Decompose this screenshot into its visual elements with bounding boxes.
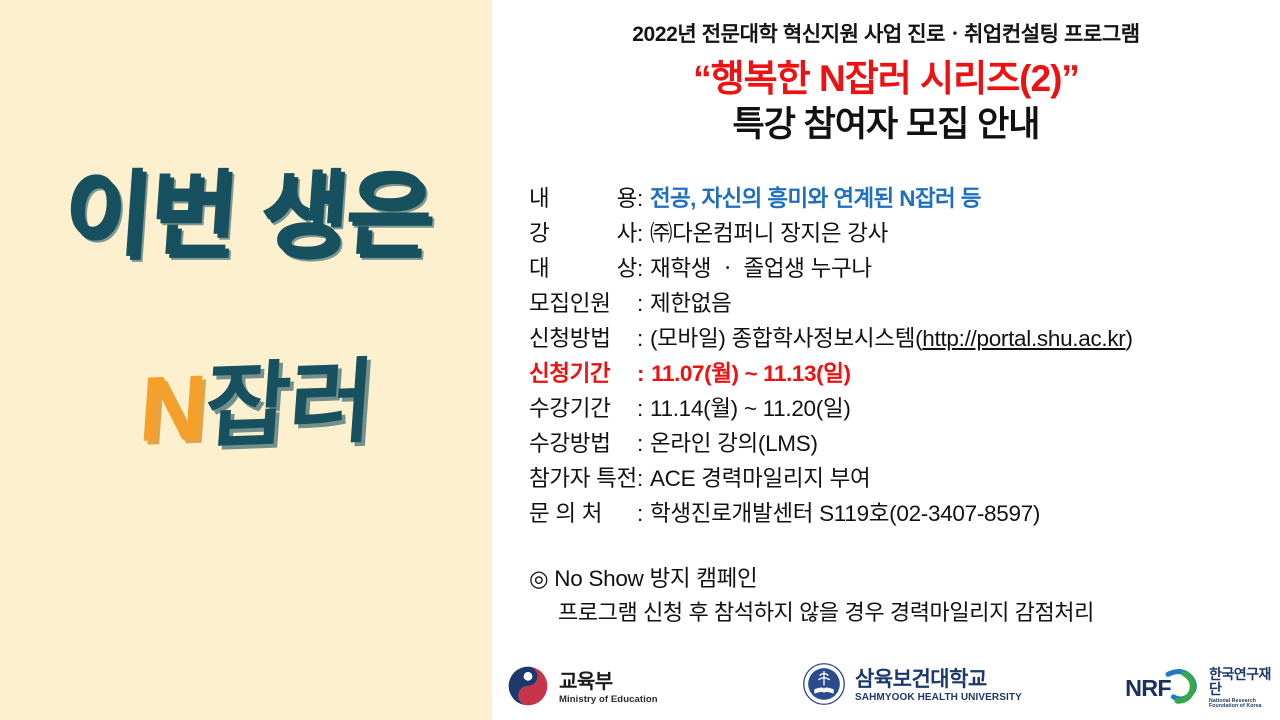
detail-colon: : [637,363,651,386]
headline-title-quoted: “행복한 N잡러 시리즈(2)” [492,58,1280,101]
detail-label: 문 의 처 [529,503,637,526]
detail-row-course-method: 수강방법 : 온라인 강의(LMS) [529,433,1269,468]
detail-label: 내용 [529,188,637,211]
detail-colon: : [637,433,650,456]
artwork-typography: 이번 생은 N잡러 [0,168,492,568]
detail-label: 모집인원 [529,293,637,316]
detail-colon: : [637,328,650,351]
detail-label: 수강기간 [529,398,637,421]
footer-logo-bar: 교육부 Ministry of Education 삼육보건대학교 SAHM [492,658,1280,720]
svg-text:NRF: NRF [1125,675,1171,701]
logo-text-block: 한국연구재단 National Research Foundation of K… [1209,667,1280,709]
detail-value: ㈜다온컴퍼니 장지은 강사 [650,223,1269,246]
detail-row-course-period: 수강기간 : 11.14(월) ~ 11.20(일) [529,398,1269,433]
detail-value: ACE 경력마일리지 부여 [650,468,1269,491]
detail-colon: : [637,503,650,526]
detail-colon: : [637,223,650,246]
detail-label-char-b: 상 [617,258,637,281]
logo-national-research-foundation: NRF 한국연구재단 National Research Foundation … [1122,666,1280,711]
detail-colon: : [637,468,650,491]
artwork-letter-n: N [136,357,209,461]
noshow-title-line: ◎ No Show 방지 캠페인 [529,564,1269,594]
logo-name-kr: 삼육보건대학교 [855,669,1022,691]
logo-name-en: SAHMYOOK HEALTH UNIVERSITY [855,693,1022,704]
detail-label: 대상 [529,258,637,281]
detail-value: 재학생 ㆍ 졸업생 누구나 [650,258,1269,281]
detail-value: 온라인 강의(LMS) [650,433,1269,456]
nrf-swoosh-icon: NRF [1122,666,1200,711]
detail-value: (모바일) 종합학사정보시스템(http://portal.shu.ac.kr) [650,328,1269,351]
application-method-prefix: (모바일) 종합학사정보시스템( [650,326,922,351]
artwork-line-1: 이번 생은 [61,168,435,262]
detail-row-audience: 대상 : 재학생 ㆍ 졸업생 누구나 [529,258,1269,293]
header-block: 2022년 전문대학 혁신지원 사업 진로ㆍ취업컨설팅 프로그램 “행복한 N잡… [492,22,1280,145]
detail-colon: : [637,398,650,421]
detail-colon: : [637,293,650,316]
artwork-panel: 이번 생은 N잡러 [0,0,492,720]
poster-root: 이번 생은 N잡러 2022년 전문대학 혁신지원 사업 진로ㆍ취업컨설팅 프로… [0,0,1280,720]
logo-sahmyook-health-university: 삼육보건대학교 SAHMYOOK HEALTH UNIVERSITY [802,662,1022,711]
detail-label: 신청방법 [529,328,637,351]
detail-row-contact: 문 의 처 : 학생진로개발센터 S119호(02-3407-8597) [529,503,1269,538]
noshow-title-text: No Show 방지 캠페인 [554,566,757,591]
logo-name-en: Ministry of Education [559,695,658,705]
detail-row-instructor: 강사 : ㈜다온컴퍼니 장지은 강사 [529,223,1269,258]
detail-label-char-a: 강 [529,223,549,246]
detail-label: 신청기간 [529,363,637,386]
detail-value: 학생진로개발센터 S119호(02-3407-8597) [650,503,1269,526]
detail-label-char-a: 대 [529,258,549,281]
detail-row-content: 내용 : 전공, 자신의 흥미와 연계된 N잡러 등 [529,188,1269,223]
noshow-campaign-note: ◎ No Show 방지 캠페인 프로그램 신청 후 참석하지 않을 경우 경력… [529,564,1269,628]
details-list: 내용 : 전공, 자신의 흥미와 연계된 N잡러 등 강사 : ㈜다온컴퍼니 장… [529,188,1269,538]
detail-row-application-method: 신청방법 : (모바일) 종합학사정보시스템(http://portal.shu… [529,328,1269,363]
detail-label: 수강방법 [529,433,637,456]
logo-text-block: 교육부 Ministry of Education [559,672,658,705]
detail-row-capacity: 모집인원 : 제한없음 [529,293,1269,328]
double-circle-bullet-icon: ◎ [529,566,548,591]
program-kicker: 2022년 전문대학 혁신지원 사업 진로ㆍ취업컨설팅 프로그램 [492,22,1280,48]
logo-name-kr: 교육부 [559,672,658,693]
detail-label: 강사 [529,223,637,246]
detail-label-char-b: 용 [617,188,637,211]
detail-value: 11.14(월) ~ 11.20(일) [650,398,1269,421]
logo-text-block: 삼육보건대학교 SAHMYOOK HEALTH UNIVERSITY [855,669,1022,704]
detail-row-participant-benefit: 참가자 특전 : ACE 경력마일리지 부여 [529,468,1269,503]
headline-subtitle: 특강 참여자 모집 안내 [492,105,1280,145]
artwork-line-2: N잡러 [136,356,376,456]
detail-row-application-period: 신청기간 : 11.07(월) ~ 11.13(일) [529,363,1269,398]
detail-colon: : [637,258,650,281]
logo-ministry-of-education: 교육부 Ministry of Education [506,664,658,713]
logo-name-en: National Research Foundation of Korea [1209,699,1280,710]
detail-label-char-b: 사 [617,223,637,246]
noshow-detail-text: 프로그램 신청 후 참석하지 않을 경우 경력마일리지 감점처리 [529,598,1269,628]
detail-colon: : [637,188,650,211]
detail-label-char-a: 내 [529,188,549,211]
logo-name-kr: 한국연구재단 [1209,667,1280,696]
taegeuk-swirl-icon [506,664,550,713]
detail-label: 참가자 특전 [529,468,637,491]
artwork-word-jobreo: 잡러 [202,351,377,459]
content-panel: 2022년 전문대학 혁신지원 사업 진로ㆍ취업컨설팅 프로그램 “행복한 N잡… [492,0,1280,720]
portal-url-link[interactable]: http://portal.shu.ac.kr [922,326,1125,351]
university-seal-icon [802,662,846,711]
application-method-suffix: ) [1126,326,1133,351]
detail-value: 전공, 자신의 흥미와 연계된 N잡러 등 [650,188,1269,211]
detail-value: 제한없음 [650,293,1269,316]
detail-value: 11.07(월) ~ 11.13(일) [651,363,1269,386]
